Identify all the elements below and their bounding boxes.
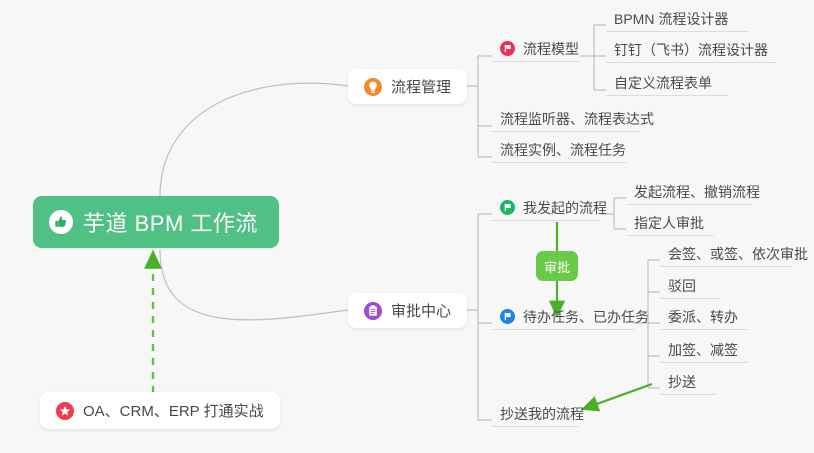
node-delegate-transfer-label: 委派、转办 <box>668 307 738 327</box>
node-reject[interactable]: 驳回 <box>660 277 720 299</box>
arrow-cc-to-cc-processes <box>583 384 652 409</box>
node-start-cancel-process[interactable]: 发起流程、撤销流程 <box>626 183 752 205</box>
node-cc-label: 抄送 <box>668 372 696 392</box>
node-reject-label: 驳回 <box>668 276 696 296</box>
node-process-model-label: 流程模型 <box>523 39 579 59</box>
node-process-instance[interactable]: 流程实例、流程任务 <box>492 141 626 163</box>
node-process-listener-label: 流程监听器、流程表达式 <box>500 109 654 129</box>
node-assigned-approval-label: 指定人审批 <box>634 213 704 233</box>
branch-process-management-label: 流程管理 <box>391 76 451 97</box>
wire-root-to-approval-center <box>160 250 348 320</box>
node-add-remove-sign[interactable]: 加签、减签 <box>660 341 748 363</box>
branch-process-management[interactable]: 流程管理 <box>348 69 467 104</box>
node-bpmn-designer-label: BPMN 流程设计器 <box>614 9 728 29</box>
node-add-remove-sign-label: 加签、减签 <box>668 340 738 360</box>
wire-root-to-process-management <box>160 83 348 196</box>
node-todo-done-tasks-label: 待办任务、已办任务 <box>523 307 649 327</box>
branch-approval-center-label: 审批中心 <box>391 300 451 321</box>
node-cc-my-processes[interactable]: 抄送我的流程 <box>492 405 578 427</box>
node-custom-form[interactable]: 自定义流程表单 <box>606 74 728 96</box>
root-label: 芋道 BPM 工作流 <box>83 206 258 238</box>
node-dingtalk-designer[interactable]: 钉钉（飞书）流程设计器 <box>606 41 776 63</box>
callout-integration-label: OA、CRM、ERP 打通实战 <box>83 400 264 421</box>
node-countersign[interactable]: 会签、或签、依次审批 <box>660 245 792 267</box>
node-custom-form-label: 自定义流程表单 <box>614 73 712 93</box>
tag-approval[interactable]: 审批 <box>536 251 578 281</box>
star-icon <box>56 402 74 420</box>
node-assigned-approval[interactable]: 指定人审批 <box>626 214 714 236</box>
root-node[interactable]: 芋道 BPM 工作流 <box>33 196 279 248</box>
node-start-cancel-process-label: 发起流程、撤销流程 <box>634 182 760 202</box>
node-bpmn-designer[interactable]: BPMN 流程设计器 <box>606 10 748 32</box>
flag-icon <box>500 200 515 215</box>
node-countersign-label: 会签、或签、依次审批 <box>668 244 808 264</box>
node-process-listener[interactable]: 流程监听器、流程表达式 <box>492 110 640 132</box>
callout-integration[interactable]: OA、CRM、ERP 打通实战 <box>40 392 280 429</box>
clipboard-icon <box>364 302 382 320</box>
flag-icon <box>500 309 515 324</box>
branch-approval-center[interactable]: 审批中心 <box>348 293 467 328</box>
lightbulb-icon <box>364 78 382 96</box>
node-delegate-transfer[interactable]: 委派、转办 <box>660 308 748 330</box>
node-my-started-processes-label: 我发起的流程 <box>523 198 607 218</box>
node-my-started-processes[interactable]: 我发起的流程 <box>492 199 600 221</box>
node-todo-done-tasks[interactable]: 待办任务、已办任务 <box>492 308 634 330</box>
node-process-instance-label: 流程实例、流程任务 <box>500 140 626 160</box>
node-dingtalk-designer-label: 钉钉（飞书）流程设计器 <box>614 40 768 60</box>
tag-approval-label: 审批 <box>544 257 570 276</box>
thumbs-up-icon <box>49 210 73 234</box>
flag-icon <box>500 41 515 56</box>
node-cc[interactable]: 抄送 <box>660 373 716 395</box>
mindmap-canvas: 芋道 BPM 工作流 流程管理 流程模型 BPMN 流程设计器 钉钉（飞书）流程… <box>0 0 814 453</box>
node-cc-my-processes-label: 抄送我的流程 <box>500 404 584 424</box>
node-process-model[interactable]: 流程模型 <box>492 40 580 62</box>
